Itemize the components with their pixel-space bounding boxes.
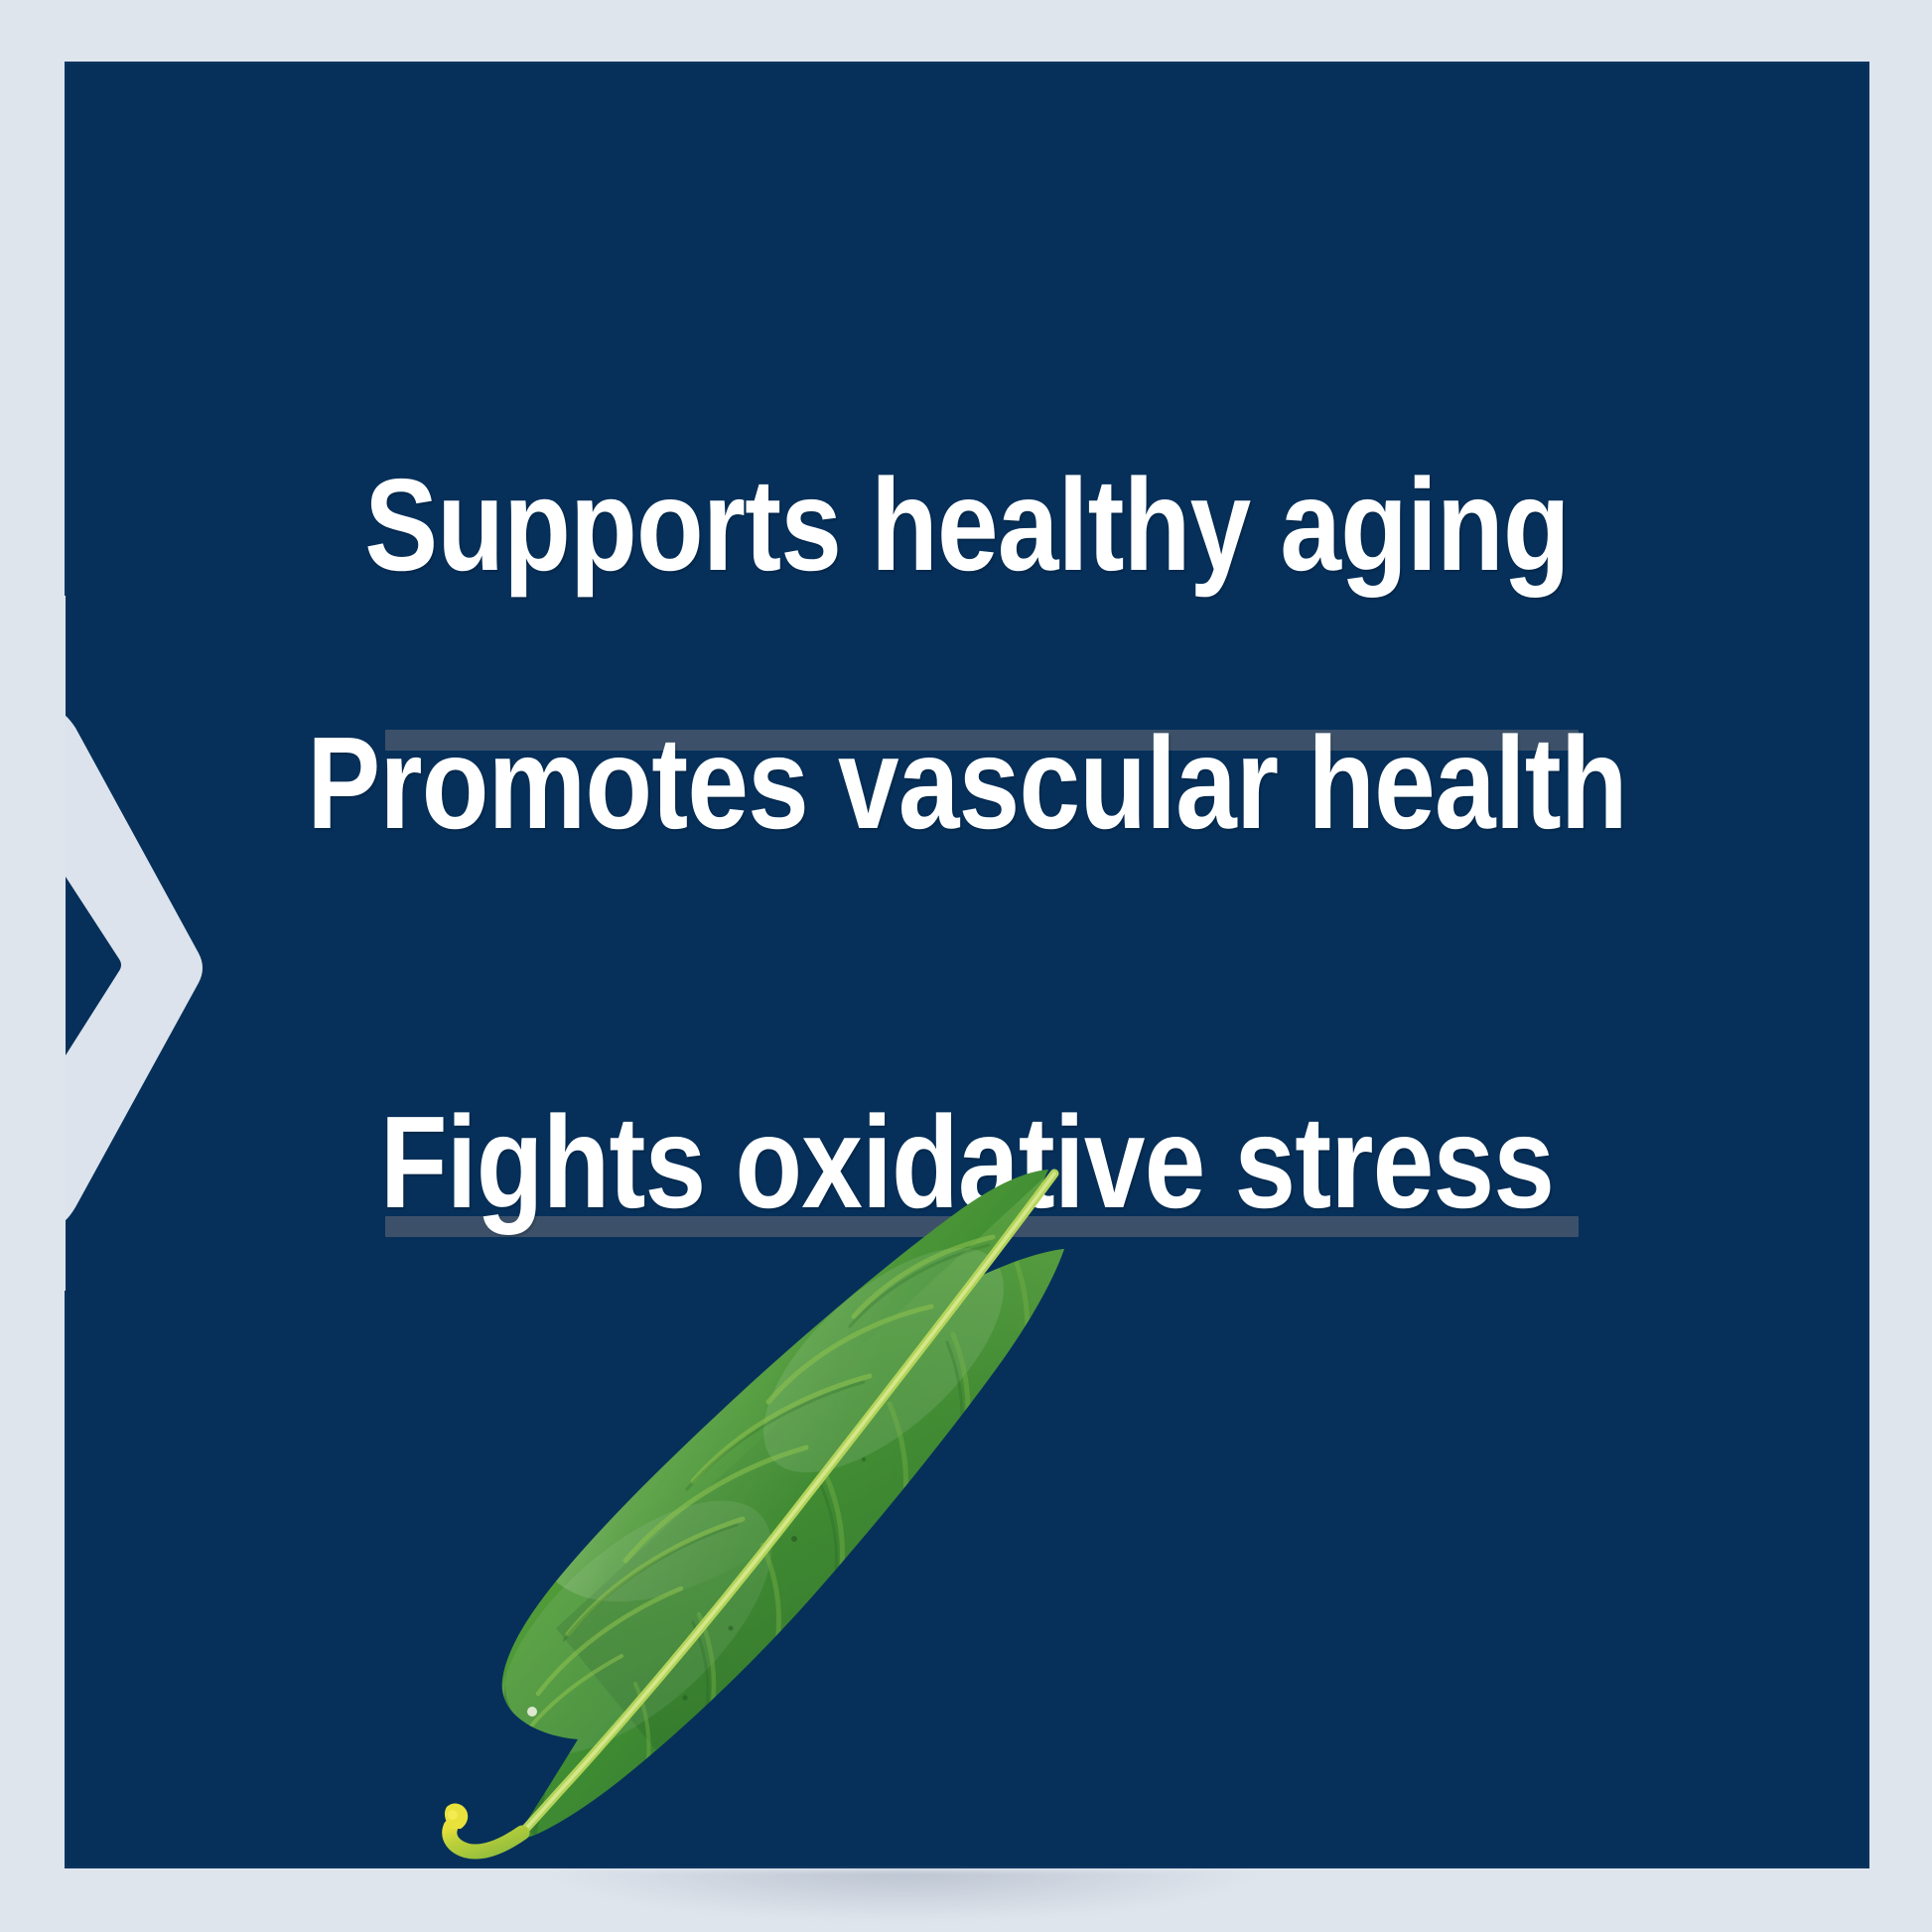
- leaf-drop-shadow: [556, 1870, 1251, 1920]
- product-benefits-graphic: Supports healthy aging Promotes vascular…: [0, 0, 1932, 1932]
- benefit-heading-1: Supports healthy aging: [208, 459, 1725, 593]
- benefit-heading-2: Promotes vascular health: [208, 717, 1725, 851]
- chevron-left-fill: [0, 596, 66, 1291]
- leaf-stem: [445, 1804, 522, 1853]
- leaf-lamina: [457, 1148, 1132, 1847]
- coffee-leaf-image: [437, 1112, 1211, 1876]
- leaf-illustration: [437, 1112, 1211, 1876]
